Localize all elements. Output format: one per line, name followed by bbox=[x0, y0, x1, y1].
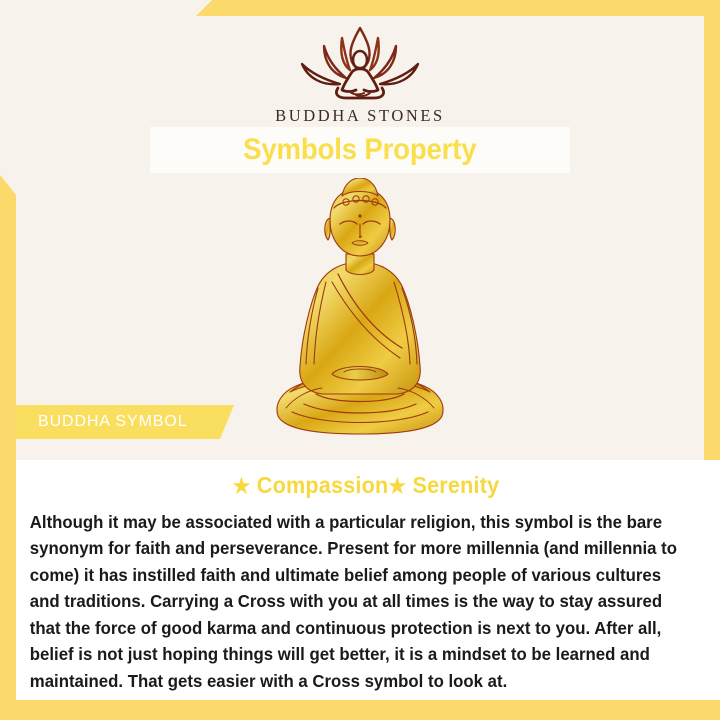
brand-name: BUDDHA STONES bbox=[0, 106, 720, 126]
content-headline: ★ Compassion★ Serenity bbox=[45, 472, 688, 499]
frame-left-lower-bar bbox=[0, 446, 16, 720]
star-icon-right: ★ bbox=[388, 475, 406, 498]
star-icon-left: ★ bbox=[233, 475, 251, 498]
frame-top-right-bar bbox=[196, 0, 720, 16]
content-body-text: Although it may be associated with a par… bbox=[24, 509, 684, 694]
symbol-banner-label: BUDDHA SYMBOL bbox=[16, 413, 188, 431]
golden-seated-buddha-statue-icon bbox=[260, 178, 460, 444]
title-band: Symbols Property bbox=[150, 127, 570, 173]
headline-word-compassion: Compassion bbox=[257, 472, 389, 498]
hero-image-wrap bbox=[0, 176, 720, 444]
poster-root: BUDDHA STONES Symbols Property bbox=[0, 0, 720, 720]
symbol-banner: BUDDHA SYMBOL bbox=[16, 405, 234, 439]
brand-block: BUDDHA STONES bbox=[0, 22, 720, 126]
frame-bottom-bar bbox=[0, 700, 720, 720]
content-card: ★ Compassion★ Serenity Although it may b… bbox=[16, 460, 720, 700]
headline-word-serenity: Serenity bbox=[412, 472, 499, 498]
lotus-meditation-icon bbox=[290, 22, 430, 102]
page-title: Symbols Property bbox=[243, 133, 476, 167]
